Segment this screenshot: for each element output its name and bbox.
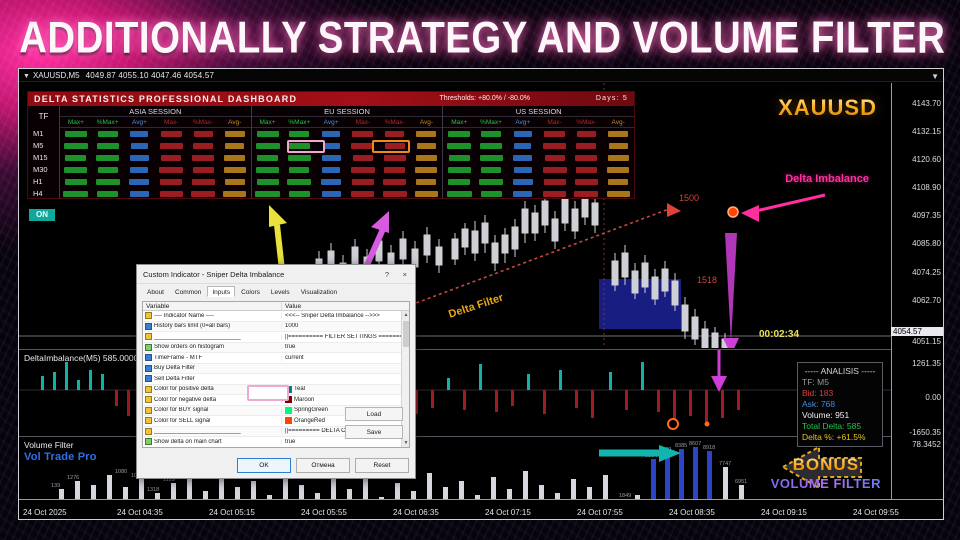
table-row — [443, 128, 634, 140]
col-max-minus: Max- — [539, 117, 571, 127]
eu-column-headers: Max+ %Max+ Avg+ Max- %Max- Avg- — [252, 117, 443, 128]
col-pct-max-minus: %Max- — [570, 117, 602, 127]
vol-trade-pro-logo: Vol Trade Pro — [24, 451, 97, 463]
col-max-minus: Max- — [155, 117, 187, 127]
dialog-title: Custom Indicator - Sniper Delta Imbalanc… — [143, 270, 284, 279]
col-max-plus: Max+ — [60, 117, 92, 127]
tf-row-m1[interactable]: M1 — [28, 128, 59, 140]
parameter-name: Color for SELL signal — [154, 418, 210, 424]
parameter-name: __________________________ — [154, 334, 241, 340]
table-row — [60, 164, 251, 176]
bonus-sublabel: VOLUME FILTER — [771, 476, 881, 491]
table-row — [252, 188, 443, 200]
color-swatch — [285, 407, 292, 414]
parameter-type-icon — [145, 396, 152, 403]
chart-symbol-label: XAUUSD,M5 — [33, 71, 80, 80]
session-us-label: US SESSION — [443, 106, 634, 117]
delta-statistics-dashboard: DELTA STATISTICS PROFESSIONAL DASHBOARD … — [27, 91, 635, 199]
parameter-name: TimeFrame - MTF — [154, 355, 202, 361]
parameter-type-icon — [145, 333, 152, 340]
table-row — [60, 188, 251, 200]
table-row — [60, 152, 251, 164]
asia-column-headers: Max+ %Max+ Avg+ Max- %Max- Avg- — [60, 117, 251, 128]
col-max-plus: Max+ — [252, 117, 284, 127]
table-row — [60, 140, 251, 152]
col-value-header: Value — [281, 302, 409, 310]
parameter-type-icon — [145, 438, 152, 445]
parameter-type-icon — [145, 312, 152, 319]
help-icon[interactable]: ? — [385, 265, 389, 284]
col-avg-minus: Avg- — [411, 117, 443, 127]
delta-imbalance-annotation: Delta Imbalance — [785, 173, 869, 185]
analysis-delta-percent: Delta %: +61.5% — [802, 432, 878, 443]
col-pct-max-plus: %Max+ — [92, 117, 124, 127]
chart-ohlc-values: 4049.87 4055.10 4047.46 4054.57 — [86, 71, 215, 80]
col-avg-plus: Avg+ — [507, 117, 539, 127]
parameter-type-icon — [145, 365, 152, 372]
table-row — [252, 164, 443, 176]
analysis-timeframe: TF: M5 — [802, 377, 878, 388]
svg-text:1318: 1318 — [147, 487, 159, 493]
dashboard-grid: TF M1 M5 M15 M30 H1 H4 ASIA SESSION Max+… — [28, 106, 634, 198]
bonus-callout: BONUS VOLUME FILTER — [771, 455, 881, 491]
parameter-name: Show orders on histogram — [154, 344, 224, 350]
reset-button[interactable]: Reset — [355, 458, 409, 473]
parameter-type-icon — [145, 344, 152, 351]
svg-text:7747: 7747 — [719, 461, 731, 467]
chevron-down-icon[interactable]: ▼ — [23, 73, 30, 80]
parameter-value[interactable]: 1000 — [281, 323, 409, 329]
tab-levels[interactable]: Levels — [266, 286, 295, 297]
analysis-ask: Ask: 768 — [802, 399, 878, 410]
cancel-button[interactable]: Отмена — [296, 458, 350, 473]
svg-text:8918: 8918 — [703, 445, 715, 451]
input-row[interactable]: __________________________||========== F… — [143, 332, 409, 343]
parameter-value[interactable]: true — [281, 344, 409, 350]
col-avg-plus: Avg+ — [124, 117, 156, 127]
bar-countdown: 00:02:34 — [759, 329, 799, 340]
parameter-name: ---- Indicator Name ---- — [154, 313, 214, 319]
tf-row-h1[interactable]: H1 — [28, 176, 59, 188]
parameter-value[interactable]: current — [281, 355, 409, 361]
col-avg-plus: Avg+ — [315, 117, 347, 127]
svg-text:8607: 8607 — [689, 441, 701, 447]
scrollbar-thumb[interactable] — [403, 321, 409, 347]
table-row — [252, 128, 443, 140]
dashboard-title: DELTA STATISTICS PROFESSIONAL DASHBOARD — [34, 94, 297, 104]
parameter-name: Color for BUY signal — [154, 407, 208, 413]
tf-row-m5[interactable]: M5 — [28, 140, 59, 152]
analysis-panel: ----- ANALISIS ----- TF: M5 Bid: 183 Ask… — [797, 362, 883, 447]
tf-row-m30[interactable]: M30 — [28, 164, 59, 176]
table-row — [443, 188, 634, 200]
input-row[interactable]: Buy Delta Filter — [143, 364, 409, 375]
analysis-total-delta: Total Delta: 585 — [802, 421, 878, 432]
col-variable-header: Variable — [143, 302, 281, 310]
parameter-name: Show delta on main chart — [154, 439, 222, 445]
tab-colors[interactable]: Colors — [236, 286, 265, 297]
parameter-name: Buy Delta Filter — [154, 365, 195, 371]
parameter-type-icon — [145, 386, 152, 393]
table-row — [252, 140, 443, 152]
scroll-up-icon[interactable]: ▲ — [402, 311, 410, 319]
scroll-down-icon[interactable]: ▼ — [402, 439, 410, 447]
indicator-properties-dialog: Custom Indicator - Sniper Delta Imbalanc… — [136, 264, 416, 479]
page-title: ADDITIONALLY STRATEGY AND VOLUME FILTER — [19, 11, 941, 65]
col-pct-max-minus: %Max- — [379, 117, 411, 127]
tab-common[interactable]: Common — [170, 286, 206, 297]
highlight-delta-filter-value — [247, 385, 289, 401]
dashboard-title-bar: DELTA STATISTICS PROFESSIONAL DASHBOARD … — [28, 92, 634, 106]
svg-text:8385: 8385 — [675, 443, 687, 449]
tab-about[interactable]: About — [142, 286, 169, 297]
table-row — [443, 152, 634, 164]
terminal-title-bar: ▼XAUUSD,M54049.87 4055.10 4047.46 4054.5… — [19, 69, 943, 82]
col-pct-max-plus: %Max+ — [283, 117, 315, 127]
tf-row-h4[interactable]: H4 — [28, 188, 59, 200]
col-pct-max-minus: %Max- — [187, 117, 219, 127]
ok-button[interactable]: OK — [237, 458, 291, 473]
on-toggle-button[interactable]: ON — [29, 209, 55, 221]
parameter-type-icon — [145, 407, 152, 414]
window-minimize-icon[interactable]: ▼ — [931, 70, 939, 83]
timeframe-column: TF M1 M5 M15 M30 H1 H4 — [28, 106, 60, 198]
time-scale[interactable]: 24 Oct 2025 24 Oct 04:35 24 Oct 05:15 24… — [19, 499, 943, 519]
parameter-type-icon — [145, 354, 152, 361]
parameter-value[interactable]: ||========== FILTER SETTINGS ======= — [281, 334, 409, 340]
input-row[interactable]: History bars limit (0=all bars)1000 — [143, 322, 409, 333]
table-row — [252, 152, 443, 164]
parameter-type-icon — [145, 428, 152, 435]
tf-header: TF — [28, 106, 59, 128]
session-asia-label: ASIA SESSION — [60, 106, 251, 117]
current-price-tag: 4054.57 — [891, 327, 943, 336]
parameter-name: __________________________ — [154, 428, 241, 434]
load-button[interactable]: Load — [345, 407, 403, 421]
tf-row-m15[interactable]: M15 — [28, 152, 59, 164]
save-button[interactable]: Save — [345, 425, 403, 439]
col-pct-max-plus: %Max+ — [475, 117, 507, 127]
session-eu: EU SESSION Max+ %Max+ Avg+ Max- %Max- Av… — [252, 106, 444, 198]
parameter-type-icon — [145, 375, 152, 382]
dialog-title-bar: Custom Indicator - Sniper Delta Imbalanc… — [137, 265, 415, 284]
parameter-name: Sell Delta Filter — [154, 376, 195, 382]
col-max-minus: Max- — [347, 117, 379, 127]
parameter-type-icon — [145, 417, 152, 424]
svg-text:1276: 1276 — [67, 475, 79, 481]
dialog-tabs: About Common Inputs Colors Levels Visual… — [137, 284, 415, 297]
table-row — [60, 128, 251, 140]
dialog-footer: OK Отмена Reset — [237, 458, 409, 473]
delta-pane-label: DeltaImbalance(M5) 585.0000 — [24, 353, 138, 363]
session-eu-label: EU SESSION — [252, 106, 443, 117]
price-scale[interactable]: 4143.70 4132.15 4120.60 4108.90 4097.35 … — [891, 83, 943, 499]
input-row[interactable]: ---- Indicator Name ----<<<-- Sniper Del… — [143, 311, 409, 322]
us-column-headers: Max+ %Max+ Avg+ Max- %Max- Avg- — [443, 117, 634, 128]
table-row — [443, 164, 634, 176]
svg-text:1080: 1080 — [115, 469, 127, 475]
marker-top-value: 1500 — [679, 193, 699, 203]
symbol-watermark: XAUUSD — [778, 95, 877, 121]
dashboard-thresholds: Thresholds: +80.0% / -80.0% — [440, 92, 530, 106]
table-row — [443, 176, 634, 188]
input-row[interactable]: Show orders on histogramtrue — [143, 343, 409, 354]
parameter-value[interactable]: Maroon — [281, 396, 409, 403]
table-row — [443, 140, 634, 152]
parameter-value[interactable]: Teal — [281, 386, 409, 393]
input-row[interactable]: TimeFrame - MTFcurrent — [143, 353, 409, 364]
svg-text:139: 139 — [51, 483, 60, 489]
col-max-plus: Max+ — [443, 117, 475, 127]
parameter-name: Color for positive delta — [154, 386, 214, 392]
parameter-type-icon — [145, 323, 152, 330]
session-us: US SESSION Max+ %Max+ Avg+ Max- %Max- Av… — [443, 106, 634, 198]
parameter-name: History bars limit (0=all bars) — [154, 323, 230, 329]
col-avg-minus: Avg- — [602, 117, 634, 127]
volume-pane-label: Volume Filter — [24, 440, 74, 450]
analysis-title: ----- ANALISIS ----- — [802, 366, 878, 377]
bonus-label: BONUS — [771, 455, 881, 475]
input-row[interactable]: Sell Delta Filter — [143, 374, 409, 385]
svg-text:6951: 6951 — [735, 479, 747, 485]
parameter-name: Color for negative delta — [154, 397, 216, 403]
analysis-bid: Bid: 183 — [802, 388, 878, 399]
col-avg-minus: Avg- — [219, 117, 251, 127]
dashboard-days: Days: 5 — [596, 92, 628, 106]
tab-visualization[interactable]: Visualization — [296, 286, 342, 297]
analysis-volume: Volume: 951 — [802, 410, 878, 421]
highlight-eu-pct-max-plus — [287, 140, 325, 153]
table-row — [252, 176, 443, 188]
close-icon[interactable]: × — [403, 265, 407, 284]
table-row — [60, 176, 251, 188]
session-asia: ASIA SESSION Max+ %Max+ Avg+ Max- %Max- … — [60, 106, 252, 198]
marker-bottom-value: 1518 — [697, 275, 717, 285]
list-header: Variable Value — [143, 302, 409, 311]
highlight-eu-pct-max-minus — [372, 140, 410, 153]
color-swatch — [285, 417, 292, 424]
tab-inputs[interactable]: Inputs — [207, 286, 235, 297]
parameter-value[interactable]: <<<-- Sniper Delta Imbalance -->>> — [281, 313, 409, 319]
dialog-side-buttons: Load Save — [345, 407, 403, 443]
input-row[interactable]: Color for BUY delta markers on chartSpri… — [143, 448, 409, 449]
